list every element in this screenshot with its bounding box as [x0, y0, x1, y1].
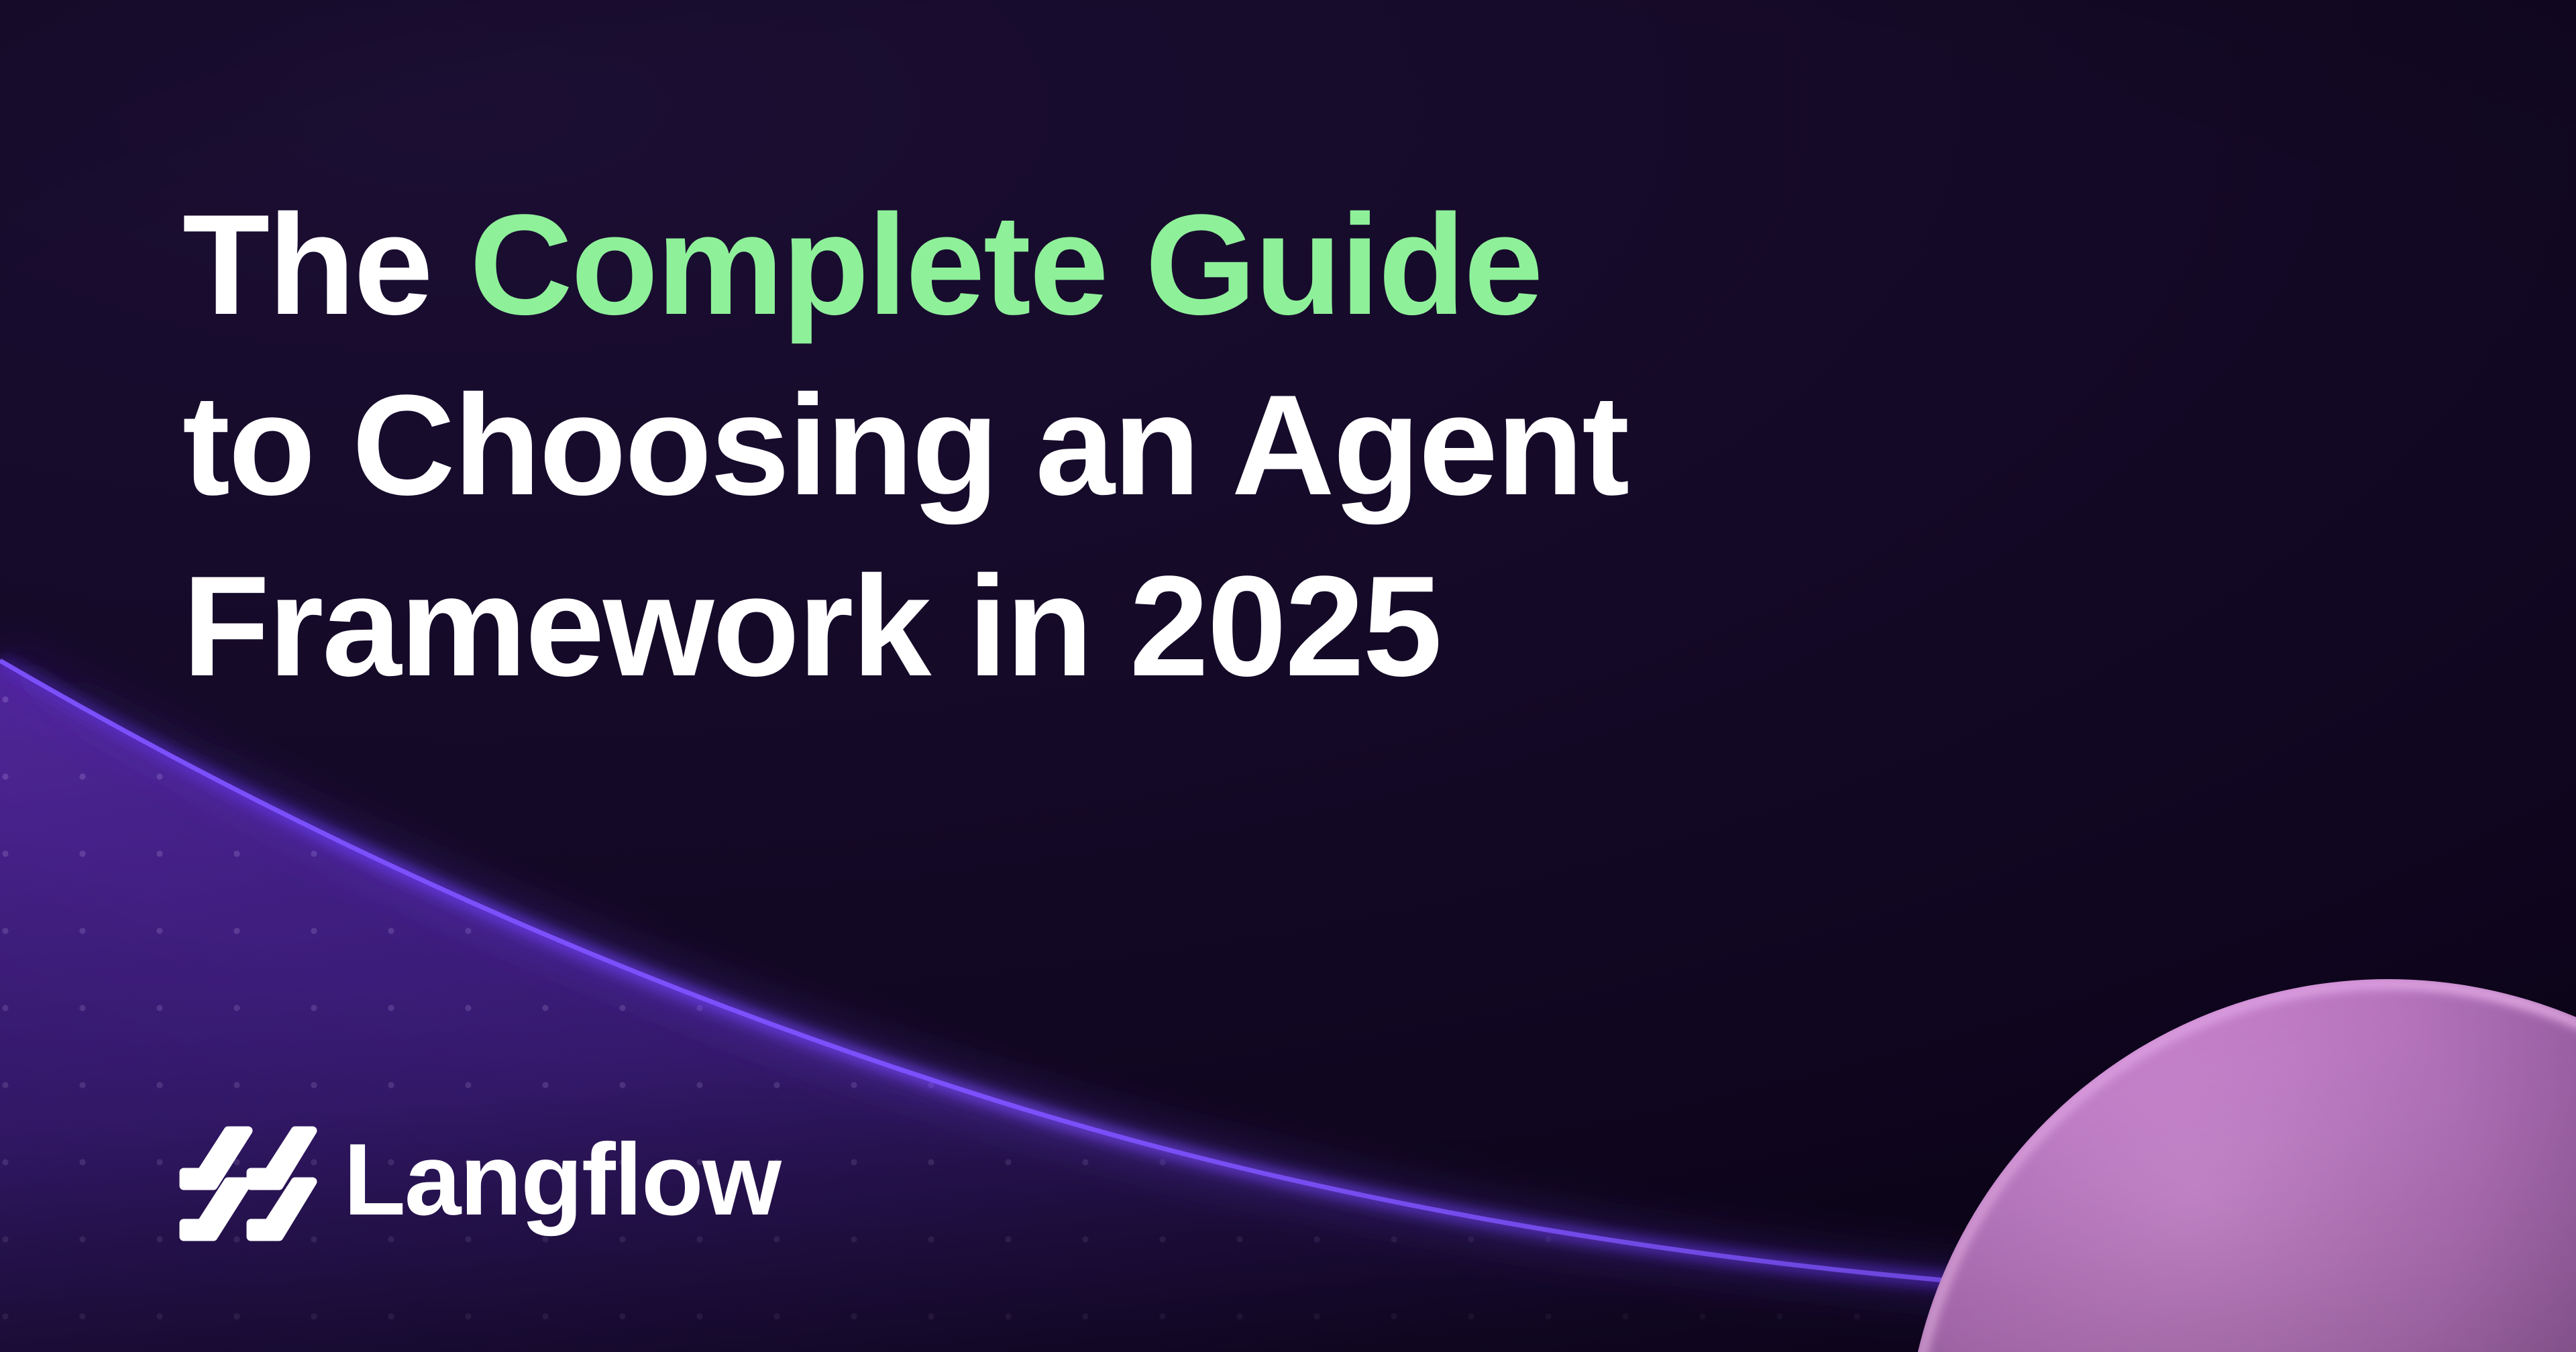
cover-canvas: The Complete Guide to Choosing an Agent … [0, 0, 2576, 1352]
langflow-logo-mark-icon [178, 1124, 318, 1243]
headline-line-2: to Choosing an Agent [182, 355, 2195, 536]
langflow-wordmark: Langflow [343, 1129, 780, 1231]
pink-sphere-shape [1905, 979, 2576, 1352]
headline-line-1-prefix: The [182, 185, 470, 345]
headline-line-3: Framework in 2025 [182, 537, 2195, 717]
page-title: The Complete Guide to Choosing an Agent … [182, 175, 2195, 717]
langflow-logo-lockup[interactable]: Langflow [178, 1124, 780, 1243]
headline-line-1: The Complete Guide [182, 175, 2195, 355]
headline-line-1-accent: Complete Guide [470, 185, 1542, 345]
